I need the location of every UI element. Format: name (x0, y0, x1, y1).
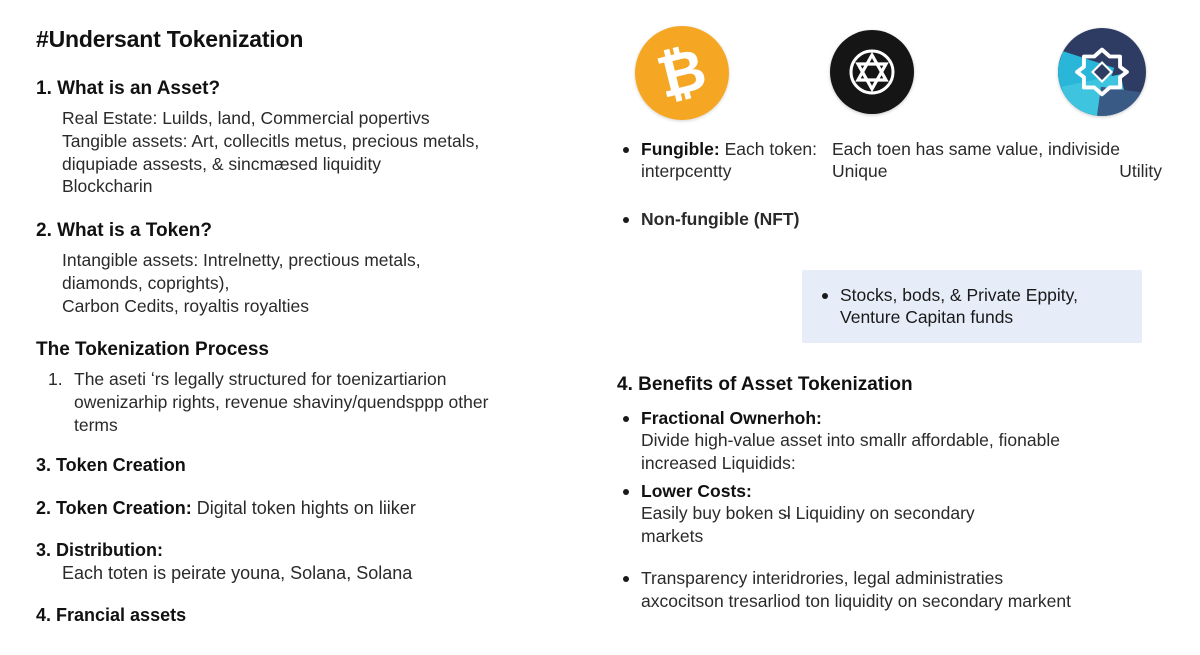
bitcoin-symbol-glyph: ₿ (652, 39, 712, 107)
section-heading-benefits: 4. Benefits of Asset Tokenization (617, 374, 1162, 397)
process-item-1-line-3: terms (74, 414, 581, 437)
token-line-3: Carbon Cedits, royaltis royalties (62, 295, 581, 318)
benefit-transparency: Transparency interidrories, legal admini… (617, 567, 1162, 612)
asset-line-3: diqupiade assests, & sincmæsed liquidity (62, 153, 581, 176)
benefit-fractional-ownership: Fractional Ownerhoh: Divide high-value a… (617, 407, 1162, 474)
process-item-5: 4. Francial assets (36, 604, 581, 627)
benefit-2-line-2: markets (641, 525, 1162, 547)
fungible-text: Each token: (720, 139, 817, 159)
process-item-3-text: Digital token hights on liiker (192, 498, 416, 518)
token-type-col-1-sub: interpcentty (641, 160, 731, 182)
token-line-2: diamonds, coprights), (62, 272, 581, 295)
benefit-lower-costs: Lower Costs: Easily buy boken s̵l Liquid… (617, 480, 1162, 547)
bitcoin-coin-icon: ₿ (635, 26, 729, 120)
section-heading-asset: 1. What is an Asset? (36, 78, 581, 101)
page-title: #Undersant Tokenization (36, 26, 581, 52)
section-heading-process: The Tokenization Process (36, 339, 581, 362)
process-item-4: 3. Distribution: Each toten is peirate y… (36, 539, 581, 584)
process-item-3: 2. Token Creation: Digital token hights … (36, 497, 581, 520)
process-item-5-label: 4. Francial assets (36, 605, 186, 625)
blue-star-token-icon (1058, 28, 1146, 116)
highlight-box-bullet: Stocks, bods, & Private Eppity, Venture … (816, 284, 1126, 329)
token-types-block: Fungible: Each token: Each toen has same… (617, 138, 1162, 190)
benefit-1-line-1: Divide high-value asset into smallr affo… (641, 429, 1162, 451)
highlight-box-line-2: Venture Capitan funds (840, 306, 1126, 328)
asset-line-4: Blockcharin (62, 175, 581, 198)
asset-line-2: Tangible assets: Art, collecitls metus, … (62, 130, 581, 153)
benefit-2-label: Lower Costs: (641, 480, 1162, 502)
right-column: ₿ (617, 26, 1162, 236)
process-item-2: 3. Token Creation (36, 454, 581, 477)
token-line-1: Intangible assets: Intrelnetty, prectiou… (62, 249, 581, 272)
section-what-is-an-asset: 1. What is an Asset? Real Estate: Luilds… (36, 78, 581, 198)
asset-line-1: Real Estate: Luilds, land, Commercial po… (62, 107, 581, 130)
dark-hexagram-token-icon (830, 30, 914, 114)
token-icon-row: ₿ (617, 26, 1162, 124)
process-item-4-label: 3. Distribution: (36, 540, 163, 560)
process-item-1-marker: 1. (48, 368, 63, 391)
benefit-1-line-2: increased Liquidids: (641, 452, 1162, 474)
highlight-box-line-1: Stocks, bods, & Private Eppity, (840, 284, 1126, 306)
fungible-label: Fungible: (641, 139, 720, 159)
token-type-col-3-sub: Utility (832, 160, 1162, 182)
process-item-1: 1. The aseti ʻrs legally structured for … (36, 368, 581, 436)
left-column: #Undersant Tokenization 1. What is an As… (36, 26, 581, 647)
token-type-col-2: Each toen has same value, indiviside (832, 138, 1162, 160)
bullet-non-fungible: Non-fungible (NFT) (617, 208, 1162, 230)
section-heading-token: 2. What is a Token? (36, 220, 581, 243)
bullet-dot-fungible (623, 147, 629, 153)
process-item-3-label: 2. Token Creation: (36, 498, 192, 518)
benefit-3-line-2: axcocitson tresarliod ton liquidity on s… (641, 590, 1162, 612)
process-item-4-sub: Each toten is peirate youna, Solana, Sol… (62, 562, 581, 585)
section-benefits: 4. Benefits of Asset Tokenization Fracti… (617, 374, 1162, 618)
section-token-body: Intangible assets: Intrelnetty, prectiou… (62, 249, 581, 317)
process-item-1-line-2: owenizarhip rights, revenue shaviny/quen… (74, 391, 581, 414)
process-item-1-line-1: The aseti ʻrs legally structured for toe… (74, 368, 581, 391)
section-what-is-a-token: 2. What is a Token? Intangible assets: I… (36, 220, 581, 317)
section-asset-body: Real Estate: Luilds, land, Commercial po… (62, 107, 581, 198)
section-tokenization-process: The Tokenization Process 1. The aseti ʻr… (36, 339, 581, 627)
benefit-2-line-1: Easily buy boken s̵l Liquidiny on second… (641, 502, 1162, 524)
token-type-col-1: Fungible: Each token: (641, 138, 856, 160)
highlight-box-financial-assets: Stocks, bods, & Private Eppity, Venture … (802, 270, 1142, 343)
slide-canvas: #Undersant Tokenization 1. What is an As… (0, 0, 1200, 655)
benefit-3-line-1: Transparency interidrories, legal admini… (641, 567, 1162, 589)
process-item-2-label: 3. Token Creation (36, 455, 186, 475)
benefit-1-label: Fractional Ownerhoh: (641, 407, 1162, 429)
